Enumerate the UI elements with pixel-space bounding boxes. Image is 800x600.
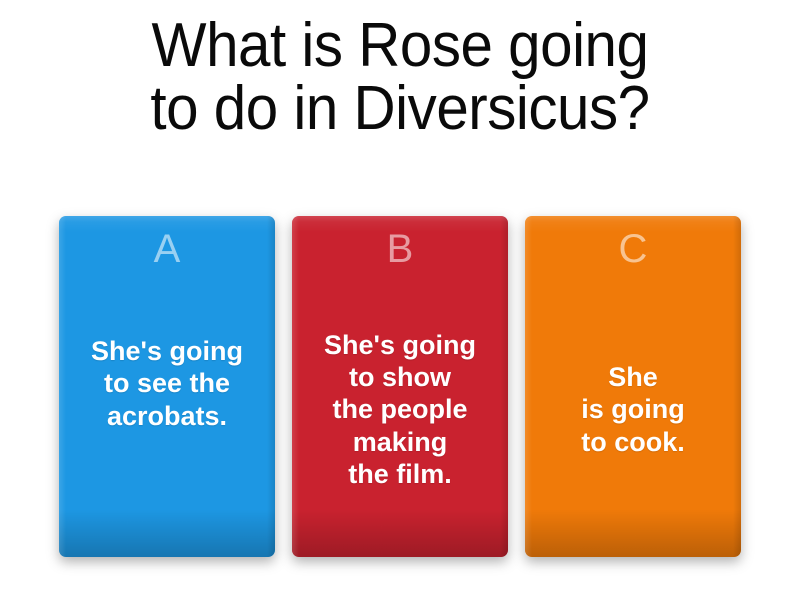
answer-letter-a: A [154, 226, 181, 272]
answer-letter-c: C [619, 226, 648, 272]
answer-text-a: She's going to see the acrobats. [87, 272, 247, 547]
answer-options-row: A She's going to see the acrobats. B She… [0, 216, 800, 561]
answer-card-c[interactable]: C She is going to cook. [525, 216, 741, 557]
answer-letter-b: B [387, 226, 414, 272]
page-title: What is Rose going to do in Diversicus? [62, 14, 739, 140]
answer-text-c: She is going to cook. [577, 272, 689, 547]
answer-text-b: She's going to show the people making th… [320, 272, 480, 547]
answer-card-a[interactable]: A She's going to see the acrobats. [59, 216, 275, 557]
answer-card-b[interactable]: B She's going to show the people making … [292, 216, 508, 557]
